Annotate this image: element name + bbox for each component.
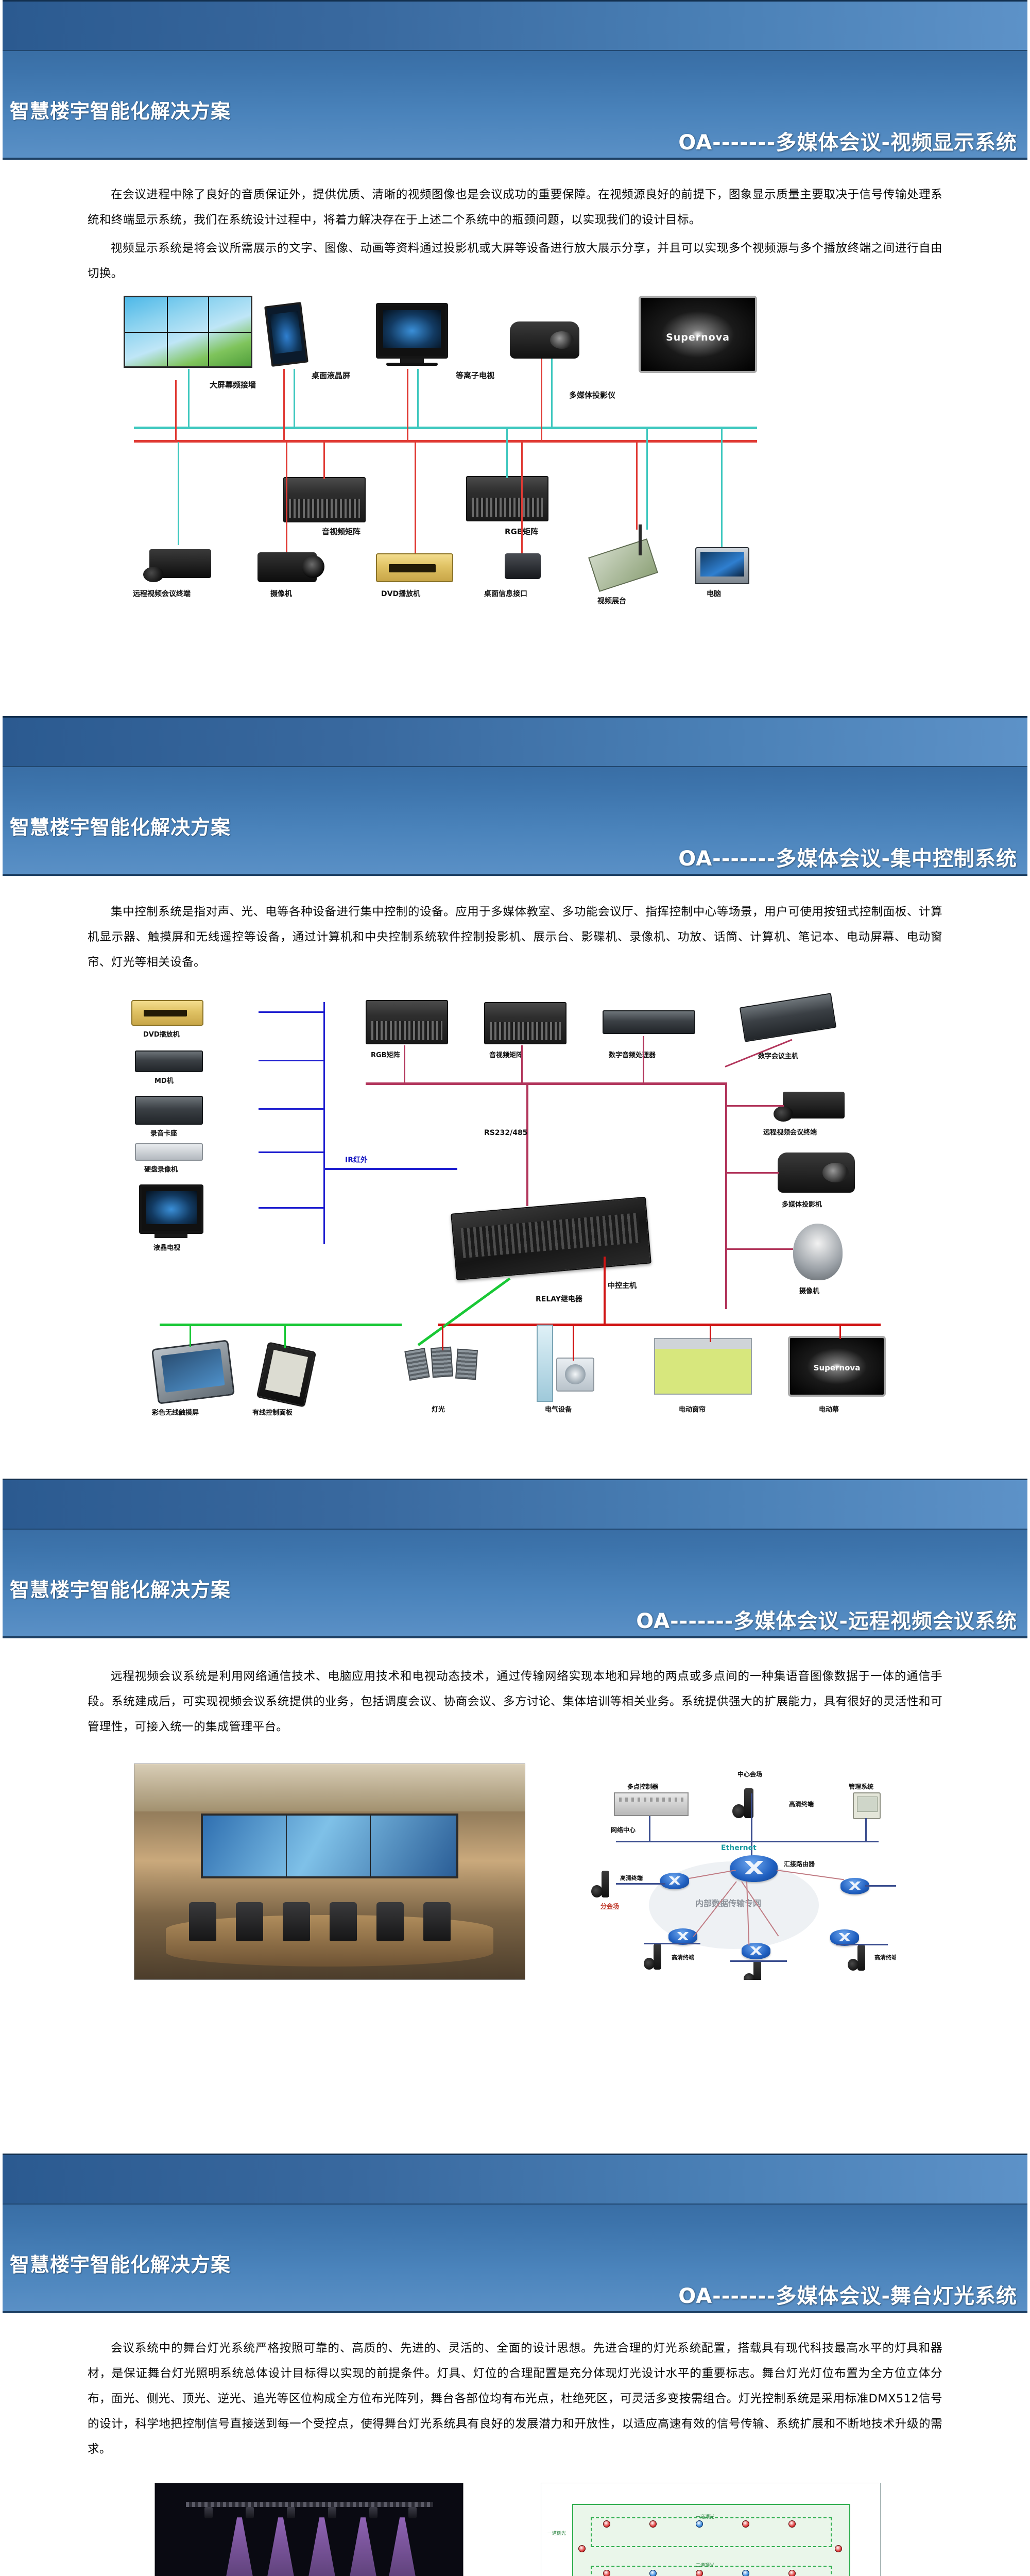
- central-controller-icon: [451, 1197, 651, 1281]
- par-light-icon: [204, 2507, 213, 2518]
- management-system-label: 管理系统: [849, 1782, 873, 1791]
- av-bus-line: [134, 440, 757, 443]
- projector-label: 多媒体投影仪: [569, 389, 615, 400]
- ir-link-dvd: [259, 1011, 324, 1013]
- par-light-icon: [408, 2507, 417, 2518]
- banner-stripe: [3, 2155, 1027, 2205]
- av-matrix-label: 音视频矩阵: [322, 526, 360, 537]
- stage-lighting-media: 一道顶光 二道顶光 逆光区 面光 舞台 一道侧光 二道侧光 三道侧光: [77, 2483, 953, 2576]
- audio-processor-label: 数字音频处理器: [609, 1049, 656, 1059]
- ir-link-tape: [259, 1108, 324, 1110]
- link-rgb-plasma: [417, 369, 419, 428]
- relay-bus-label: RELAY继电器: [536, 1294, 582, 1304]
- video-conf-terminal-label: 远程视频会议终端: [133, 588, 191, 599]
- video-conf-terminal-label: 远程视频会议终端: [763, 1127, 817, 1137]
- light-beam: [371, 2517, 433, 2576]
- relay-drop: [604, 1257, 606, 1324]
- slide-subtitle: OA-------多媒体会议-远程视频会议系统: [636, 1604, 1017, 1634]
- branch-hd-label: 高清终端: [672, 1953, 694, 1961]
- desktop-lcd-label: 桌面液晶屏: [312, 370, 350, 381]
- banner-stripe: [3, 718, 1027, 767]
- main-venue-terminal-icon: [732, 1788, 763, 1818]
- rgb-bus-line: [134, 427, 757, 429]
- slide-central-control: 智慧楼宇智能化解决方案 OA-------多媒体会议-集中控制系统 集中控制系统…: [0, 716, 1030, 1479]
- stage-light-icon: [404, 1348, 430, 1381]
- stage-light-icon: [455, 1349, 478, 1380]
- camcorder-label: 摄像机: [270, 588, 292, 599]
- link-src-pc: [721, 429, 723, 547]
- par-light-icon: [246, 2507, 254, 2518]
- motorized-curtain-label: 电动窗帘: [679, 1404, 706, 1414]
- branch-hd-label: 高清终端: [874, 1953, 896, 1961]
- tape-deck-icon: [135, 1096, 203, 1125]
- link-relay-lights: [442, 1324, 443, 1350]
- stage-light-icon: [431, 1347, 453, 1378]
- central-control-diagram: DVD播放机 MD机 录音卡座 硬盘录像机 液晶电视 IR红外 RGB矩阵 音视…: [77, 989, 953, 1349]
- rgb-matrix-label: RGB矩阵: [371, 1049, 400, 1059]
- ir-bus-label: IR红外: [345, 1155, 368, 1165]
- computer-label: 电脑: [707, 588, 721, 599]
- lcd-tv-base: [154, 1234, 187, 1238]
- stage-lighting-photo: [154, 2483, 463, 2576]
- plasma-tv-label: 等离子电视: [456, 370, 494, 381]
- ethernet-drop-mgmt: [865, 1818, 867, 1842]
- motorized-screen-label: 电动幕: [819, 1404, 839, 1414]
- main-venue-label: 中心会场: [737, 1770, 762, 1778]
- link-src-doc-a: [636, 442, 638, 530]
- core-router-icon: [730, 1855, 778, 1882]
- management-system-icon: [853, 1792, 881, 1819]
- electrical-equipment-label: 电气设备: [545, 1404, 572, 1414]
- video-display-diagram: 大屏幕频接墙 桌面液晶屏 等离子电视 多媒体投影仪 Supernova 音视频矩…: [77, 292, 953, 621]
- hd-terminal-label: 高清终端: [789, 1800, 814, 1808]
- av-matrix-icon: [283, 477, 366, 522]
- ethernet-drop-mcu: [649, 1816, 650, 1842]
- mcu-icon: [614, 1792, 689, 1816]
- branch-bus-bc: [730, 1960, 787, 1962]
- link-relay-electric: [573, 1324, 574, 1361]
- branch-terminal-icon: [591, 1871, 618, 1897]
- link-av-plasma: [407, 369, 408, 441]
- lighting-truss: [186, 2502, 433, 2507]
- rs232-controller-link: [526, 1082, 528, 1206]
- desktop-port-icon: [505, 553, 541, 579]
- light-beam: [250, 2517, 312, 2576]
- rs232-bus-label: RS232/485: [484, 1129, 527, 1137]
- rgb-matrix-icon: [366, 1000, 448, 1044]
- tape-deck-label: 录音卡座: [150, 1128, 177, 1138]
- plan-fixture: [696, 2570, 703, 2576]
- dvd-player-label: DVD播放机: [381, 588, 420, 599]
- link-src-port: [521, 442, 523, 553]
- page-title: 智慧楼宇智能化解决方案: [10, 95, 231, 124]
- plan-zone: [591, 2517, 832, 2547]
- dome-camera-icon: [793, 1224, 843, 1280]
- plan-fixture: [603, 2570, 610, 2576]
- plan-fixture: [649, 2570, 657, 2576]
- wireless-touch-panel-icon: [151, 1340, 235, 1404]
- banner-stripe: [3, 1480, 1027, 1530]
- room-chair: [236, 1902, 263, 1941]
- paragraph: 在会议进程中除了良好的音质保证外，提供优质、清晰的视频图像也是会议成功的重要保障…: [88, 182, 942, 233]
- slide-body: 远程视频会议系统是利用网络通信技术、电脑应用技术和电视动态技术，通过传输网络实现…: [88, 1664, 942, 1740]
- light-beam: [291, 2517, 353, 2576]
- branch-bus-left: [616, 1883, 665, 1885]
- control-bus-diagonal: [418, 1278, 511, 1346]
- dvr-icon: [135, 1143, 203, 1161]
- rs232-link-projector: [727, 1172, 779, 1174]
- paragraph: 远程视频会议系统是利用网络通信技术、电脑应用技术和电视动态技术，通过传输网络实现…: [88, 1664, 942, 1740]
- document-page: 智慧楼宇智能化解决方案 OA-------多媒体会议-视频显示系统 在会议进程中…: [0, 0, 1030, 2576]
- link-rgb-matrix-bus: [506, 429, 508, 478]
- paragraph: 会议系统中的舞台灯光系统严格按照可靠的、高质的、先进的、灵活的、全面的设计思想。…: [88, 2336, 942, 2462]
- computer-icon: [695, 547, 749, 584]
- rs232-audio-link: [643, 1036, 644, 1083]
- slide-banner: 智慧楼宇智能化解决方案 OA-------多媒体会议-视频显示系统: [3, 0, 1027, 160]
- video-conference-network-diagram: 内部数据传输专网 多点控制器 网络中心 中心会场 高清终端 管理系统 Ether…: [566, 1764, 896, 1980]
- video-wall-icon: [124, 296, 252, 368]
- rs232-right-drop: [725, 1082, 727, 1309]
- av-matrix-label: 音视频矩阵: [489, 1049, 523, 1059]
- link-src-conf: [178, 442, 179, 545]
- branch-bus-br: [836, 1944, 888, 1945]
- room-chair: [189, 1902, 216, 1941]
- plasma-tv-base: [386, 363, 438, 366]
- par-light-icon: [287, 2507, 295, 2518]
- link-relay-screen: [839, 1324, 841, 1339]
- wired-control-panel-icon: [256, 1342, 317, 1408]
- plan-fixture: [742, 2570, 749, 2576]
- slide-subtitle: OA-------多媒体会议-视频显示系统: [678, 126, 1017, 156]
- room-chair: [376, 1902, 404, 1941]
- document-camera-icon: [588, 538, 658, 592]
- projector-label: 多媒体投影机: [782, 1199, 822, 1209]
- par-light-icon: [328, 2507, 336, 2518]
- slide-video-display: 智慧楼宇智能化解决方案 OA-------多媒体会议-视频显示系统 在会议进程中…: [0, 0, 1030, 716]
- ethernet-bus: [616, 1841, 879, 1842]
- slide-body: 会议系统中的舞台灯光系统严格按照可靠的、高质的、先进的、灵活的、全面的设计思想。…: [88, 2336, 942, 2462]
- link-rgb-videowall: [188, 369, 190, 428]
- branch-bus-bl: [644, 1943, 700, 1944]
- relay-bus-line: [438, 1324, 881, 1326]
- banner-stripe: [3, 2, 1027, 51]
- video-wall-label: 大屏幕频接墙: [210, 379, 256, 390]
- audio-processor-icon: [603, 1010, 695, 1034]
- slide-subtitle: OA-------多媒体会议-集中控制系统: [678, 842, 1017, 872]
- projector-icon: [510, 321, 579, 359]
- plan-zone-label: 一道顶光: [696, 2513, 714, 2520]
- edge-router-icon: [742, 1943, 770, 1959]
- link-green-panel: [284, 1324, 286, 1348]
- electrical-equipment-icon: [556, 1358, 594, 1392]
- link-rgb-projector: [551, 359, 553, 428]
- link-src-cam: [286, 442, 287, 552]
- rs232-rgb-link: [404, 1045, 405, 1083]
- ir-link-controller: [323, 1168, 457, 1170]
- branch-terminal-icon: [644, 1944, 669, 1970]
- par-light-icon: [369, 2507, 377, 2518]
- motorized-screen-icon: Supernova: [788, 1336, 886, 1397]
- dvd-player-label: DVD播放机: [143, 1029, 180, 1039]
- slide-banner: 智慧楼宇智能化解决方案 OA-------多媒体会议-远程视频会议系统: [3, 1479, 1027, 1638]
- dvd-player-icon: [376, 553, 453, 582]
- electrical-equipment-tower: [537, 1325, 553, 1402]
- slide-stage-lighting: 智慧楼宇智能化解决方案 OA-------多媒体会议-舞台灯光系统 会议系统中的…: [0, 2154, 1030, 2576]
- paragraph: 视频显示系统是将会议所需展示的文字、图像、动画等资料通过投影机或大屏等设备进行放…: [88, 236, 942, 286]
- conference-room-photo: [134, 1764, 525, 1980]
- lcd-tv-icon: [139, 1184, 203, 1234]
- stage-lighting-plan: 一道顶光 二道顶光 逆光区 面光 舞台 一道侧光 二道侧光 三道侧光: [541, 2483, 881, 2576]
- plasma-tv-icon: [376, 303, 448, 359]
- edge-router-icon: [660, 1873, 689, 1889]
- digital-conf-host-icon: [740, 993, 836, 1042]
- ir-link-md: [259, 1060, 324, 1061]
- link-green-touch: [190, 1324, 191, 1347]
- room-chair: [330, 1902, 357, 1941]
- branch-hd-label: 高清终端: [620, 1874, 643, 1882]
- central-controller-label: 中控主机: [608, 1280, 637, 1291]
- slide-body: 在会议进程中除了良好的音质保证外，提供优质、清晰的视频图像也是会议成功的重要保障…: [88, 182, 942, 286]
- video-conf-terminal-mic: [143, 567, 164, 582]
- document-camera-label: 视频展台: [597, 596, 626, 606]
- link-av-lcd: [283, 369, 285, 441]
- paragraph: 集中控制系统是指对声、光、电等各种设备进行集中控制的设备。应用于多媒体教室、多功…: [88, 900, 942, 975]
- light-beam: [332, 2517, 394, 2576]
- plan-zone-label: 二道顶光: [696, 2562, 714, 2568]
- branch-terminal-icon: [744, 1960, 769, 1980]
- link-src-doc-b: [646, 429, 648, 530]
- document-camera-arm: [639, 524, 642, 555]
- desktop-lcd-icon: [264, 302, 308, 367]
- private-network-label: 内部数据传输专网: [695, 1896, 761, 1909]
- ir-link-dvr: [259, 1151, 324, 1153]
- page-title: 智慧楼宇智能化解决方案: [10, 1574, 231, 1602]
- plan-side-label: 一道侧光: [547, 2530, 566, 2536]
- md-deck-icon: [135, 1050, 203, 1072]
- branch-bus-right: [865, 1885, 896, 1887]
- camcorder-lens: [302, 555, 324, 578]
- link-av-matrix-bus: [323, 442, 325, 479]
- link-av-projector: [541, 359, 542, 441]
- digital-conf-host-label: 数字会议主机: [758, 1050, 798, 1060]
- branch-venue-label: 分会场: [600, 1902, 619, 1910]
- control-bus-line: [160, 1324, 402, 1326]
- wireless-touch-panel-label: 彩色无线触摸屏: [152, 1407, 199, 1417]
- ir-link-tv: [259, 1207, 324, 1209]
- plan-fixture: [788, 2570, 796, 2576]
- ethernet-label: Ethernet: [721, 1844, 757, 1852]
- slide-subtitle: OA-------多媒体会议-舞台灯光系统: [678, 2279, 1017, 2309]
- dome-camera-label: 摄像机: [799, 1285, 819, 1295]
- wired-control-panel-label: 有线控制面板: [252, 1407, 293, 1417]
- dvr-label: 硬盘录像机: [144, 1164, 178, 1174]
- motorized-curtain-icon: [654, 1338, 752, 1395]
- stage-light-label: 灯光: [432, 1404, 445, 1414]
- network-center-label: 网络中心: [611, 1825, 636, 1834]
- av-matrix-icon: [484, 1002, 566, 1044]
- link-av-videowall: [175, 380, 177, 441]
- rs232-link-camera: [727, 1248, 793, 1250]
- rs232-link-conf: [727, 1105, 784, 1107]
- slide-remote-conference: 智慧楼宇智能化解决方案 OA-------多媒体会议-远程视频会议系统 远程视频…: [0, 1479, 1030, 2154]
- video-conf-terminal-mic: [774, 1106, 793, 1122]
- remote-conference-media: 内部数据传输专网 多点控制器 网络中心 中心会场 高清终端 管理系统 Ether…: [77, 1764, 953, 1990]
- rgb-matrix-icon: [466, 476, 548, 521]
- slide-banner: 智慧楼宇智能化解决方案 OA-------多媒体会议-舞台灯光系统: [3, 2154, 1027, 2313]
- lcd-tv-label: 液晶电视: [153, 1242, 180, 1252]
- projector-icon: [778, 1153, 855, 1193]
- mcu-label: 多点控制器: [627, 1782, 658, 1791]
- light-beam: [209, 2517, 270, 2576]
- dvd-player-icon: [131, 1000, 203, 1026]
- link-src-dvd: [415, 442, 416, 553]
- projection-screen-icon: Supernova: [639, 296, 757, 373]
- page-title: 智慧楼宇智能化解决方案: [10, 2249, 231, 2277]
- rs232-av-link: [521, 1045, 523, 1083]
- branch-terminal-icon: [848, 1945, 873, 1971]
- room-chair: [283, 1902, 310, 1941]
- room-video-wall: [201, 1814, 458, 1878]
- rs232-bus-line: [366, 1082, 726, 1085]
- slide-body: 集中控制系统是指对声、光、电等各种设备进行集中控制的设备。应用于多媒体教室、多功…: [88, 900, 942, 975]
- core-router-label: 汇接路由器: [784, 1859, 815, 1868]
- link-relay-curtain: [710, 1324, 711, 1342]
- page-title: 智慧楼宇智能化解决方案: [10, 811, 231, 840]
- link-rgb-lcd: [294, 369, 295, 428]
- slide-banner: 智慧楼宇智能化解决方案 OA-------多媒体会议-集中控制系统: [3, 716, 1027, 876]
- desktop-port-label: 桌面信息接口: [484, 588, 527, 599]
- room-chair: [423, 1902, 451, 1941]
- md-deck-label: MD机: [154, 1075, 174, 1085]
